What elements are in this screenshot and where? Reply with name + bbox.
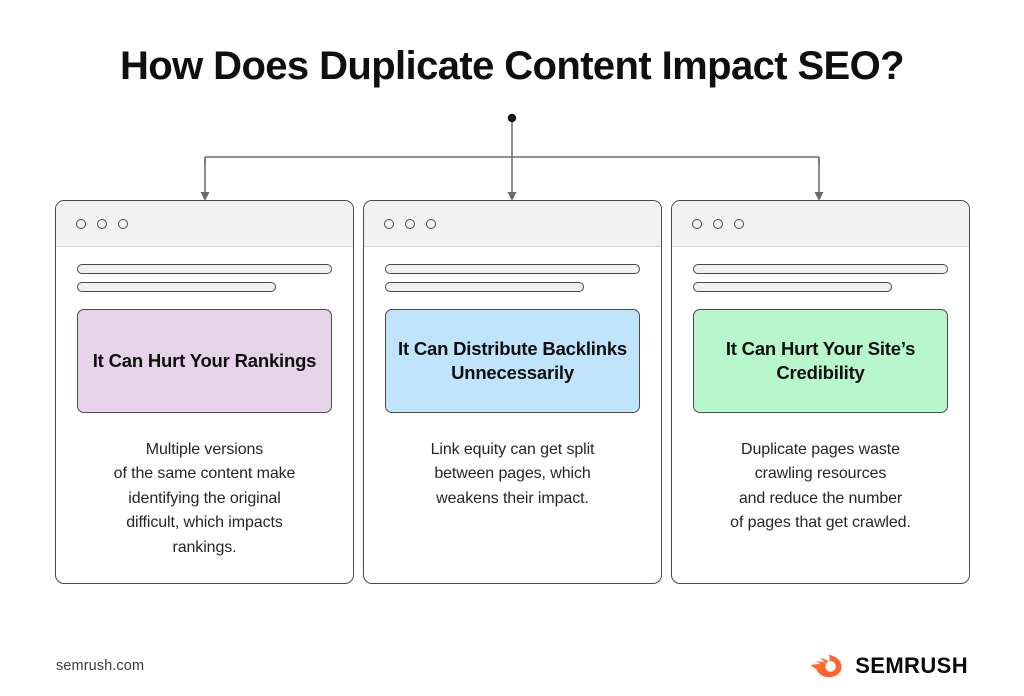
brand-name: SEMRUSH xyxy=(855,653,968,679)
card-description: Duplicate pages waste crawling resources… xyxy=(730,438,911,536)
window-dot-icon xyxy=(76,219,86,229)
skeleton-line xyxy=(77,282,276,292)
skeleton-line xyxy=(693,282,892,292)
card-body: It Can Hurt Your Rankings Multiple versi… xyxy=(56,247,353,583)
window-dot-icon xyxy=(734,219,744,229)
browser-titlebar xyxy=(672,201,969,247)
card-backlinks: It Can Distribute Backlinks Unnecessaril… xyxy=(363,200,662,584)
card-credibility: It Can Hurt Your Site’s Credibility Dupl… xyxy=(671,200,970,584)
window-dot-icon xyxy=(405,219,415,229)
connector-bus xyxy=(205,157,819,164)
window-dot-icon xyxy=(384,219,394,229)
window-dot-icon xyxy=(713,219,723,229)
card-label: It Can Distribute Backlinks Unnecessaril… xyxy=(385,309,640,413)
window-dot-icon xyxy=(97,219,107,229)
skeleton-line xyxy=(385,282,584,292)
semrush-comet-icon xyxy=(810,654,844,678)
source-url: semrush.com xyxy=(56,658,144,674)
window-dot-icon xyxy=(426,219,436,229)
window-dot-icon xyxy=(118,219,128,229)
card-description: Multiple versions of the same content ma… xyxy=(114,438,296,560)
browser-titlebar xyxy=(364,201,661,247)
connector-origin-dot xyxy=(508,114,516,122)
skeleton-line xyxy=(77,264,332,274)
card-body: It Can Distribute Backlinks Unnecessaril… xyxy=(364,247,661,583)
browser-titlebar xyxy=(56,201,353,247)
page-title: How Does Duplicate Content Impact SEO? xyxy=(0,44,1024,88)
window-dot-icon xyxy=(692,219,702,229)
card-label: It Can Hurt Your Site’s Credibility xyxy=(693,309,948,413)
card-rankings: It Can Hurt Your Rankings Multiple versi… xyxy=(55,200,354,584)
skeleton-line xyxy=(693,264,948,274)
card-body: It Can Hurt Your Site’s Credibility Dupl… xyxy=(672,247,969,583)
card-label: It Can Hurt Your Rankings xyxy=(77,309,332,413)
brand-lockup: SEMRUSH xyxy=(810,653,968,679)
card-description: Link equity can get split between pages,… xyxy=(431,438,595,511)
cards-row: It Can Hurt Your Rankings Multiple versi… xyxy=(55,200,970,584)
skeleton-line xyxy=(385,264,640,274)
